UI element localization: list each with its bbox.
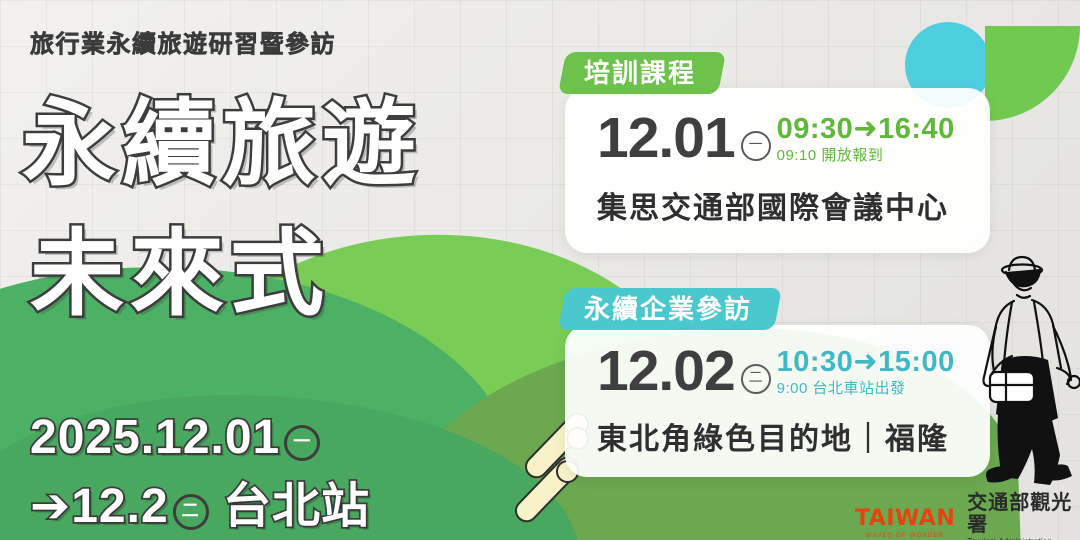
decorative-quarter-circle-icon [985, 26, 1080, 121]
taiwan-logo-wordmark: TAIWAN [855, 508, 955, 530]
training-datetime-row: 12.01 一 09:30➜16:40 09:10 開放報到 [597, 110, 955, 167]
walking-traveler-illustration-icon [962, 248, 1080, 498]
card-badge-visit-label: 永續企業參訪 [584, 288, 752, 330]
session-card-visit[interactable]: 12.02 二 10:30➜15:00 9:00 台北車站出發 東北角綠色目的地… [565, 325, 990, 477]
card-badge-visit: 永續企業參訪 [558, 288, 782, 330]
visit-weekday-badge: 二 [741, 364, 771, 394]
page-title-line-1: 永續旅遊 [22, 68, 422, 204]
poster-canvas: 旅行業永續旅遊研習暨參訪 永續旅遊 未來式 2025.12.01一 ➔12.2二… [0, 0, 1080, 540]
page-title-line-2: 未來式 [30, 198, 330, 334]
visit-time-note: 9:00 台北車站出發 [777, 378, 955, 401]
training-time-note: 09:10 開放報到 [777, 145, 955, 168]
visit-date: 12.02 [597, 343, 735, 400]
visit-venue: 東北角綠色目的地｜福隆 [597, 414, 955, 458]
event-date-end: ➔12.2 [30, 480, 169, 533]
card-badge-training: 培訓課程 [558, 52, 726, 94]
taiwan-logo-tagline: WAVES OF WONDER [866, 533, 944, 539]
weekday-badge-tue: 二 [173, 494, 209, 530]
taiwan-logo: TAIWAN WAVES OF WONDER [855, 508, 955, 539]
event-date-range-line-2: ➔12.2二 台北站 [30, 466, 370, 536]
motc-logo-chinese: 交通部觀光署 [967, 492, 1080, 536]
training-time-range: 09:30➜16:40 [777, 114, 955, 144]
visit-datetime-row: 12.02 二 10:30➜15:00 9:00 台北車站出發 [597, 343, 955, 400]
event-location-label: 台北站 [223, 480, 370, 533]
training-date: 12.01 [597, 110, 735, 167]
visit-time-range: 10:30➜15:00 [777, 347, 955, 377]
motc-logo: 交通部觀光署 Tourism Administration, MOTC [967, 492, 1080, 540]
training-weekday-badge: 一 [741, 131, 771, 161]
training-venue: 集思交通部國際會議中心 [597, 183, 955, 227]
event-date-range-line-1: 2025.12.01一 [30, 410, 320, 465]
sponsor-logo-bar: TAIWAN WAVES OF WONDER 交通部觀光署 Tourism Ad… [855, 492, 1080, 540]
session-card-training[interactable]: 12.01 一 09:30➜16:40 09:10 開放報到 集思交通部國際會議… [565, 88, 990, 253]
card-badge-training-label: 培訓課程 [584, 52, 696, 94]
weekday-badge-mon: 一 [284, 425, 320, 461]
event-date-start: 2025.12.01 [30, 411, 280, 464]
event-subtitle: 旅行業永續旅遊研習暨參訪 [30, 24, 336, 59]
